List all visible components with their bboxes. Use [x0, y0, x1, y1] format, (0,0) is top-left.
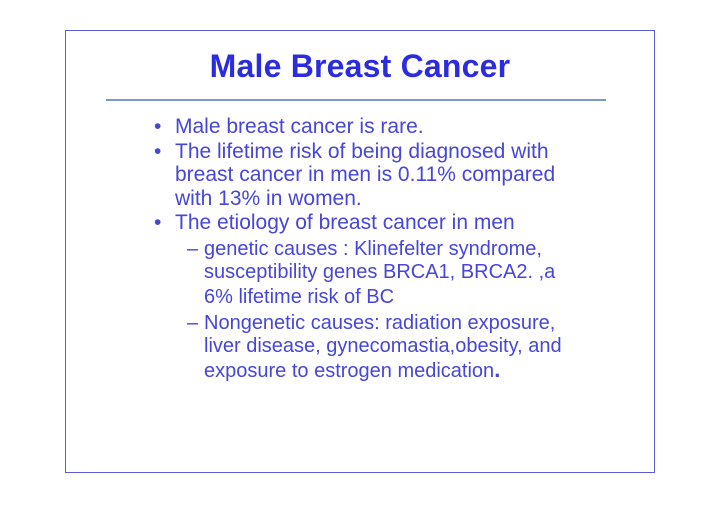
list-item: • The lifetime risk of being diagnosed w…: [106, 140, 636, 211]
sub-list-item-body: Nongenetic causes: radiation exposure, l…: [204, 312, 562, 382]
bullet-dash-icon: –: [187, 312, 198, 335]
list-item: • The etiology of breast cancer in men: [106, 211, 636, 235]
sub-list-item: – genetic causes : Klinefelter syndrome,…: [106, 238, 636, 309]
sub-list-item-emphasis: .: [494, 357, 500, 382]
sub-list-item: – Nongenetic causes: radiation exposure,…: [106, 312, 636, 383]
list-item-text: The etiology of breast cancer in men: [175, 211, 636, 235]
list-item: • Male breast cancer is rare.: [106, 115, 636, 139]
list-item-text: The lifetime risk of being diagnosed wit…: [175, 140, 636, 211]
slide-frame: Male Breast Cancer • Male breast cancer …: [65, 30, 655, 473]
sub-list-item-text: Nongenetic causes: radiation exposure, l…: [204, 312, 636, 383]
slide-canvas: Male Breast Cancer • Male breast cancer …: [0, 0, 720, 509]
bullet-dash-icon: –: [187, 238, 198, 261]
title-divider: [106, 99, 606, 101]
slide-content: • Male breast cancer is rare. • The life…: [106, 115, 636, 383]
sub-list-item-text: genetic causes : Klinefelter syndrome, s…: [204, 238, 636, 309]
list-item-text: Male breast cancer is rare.: [175, 115, 636, 139]
sub-list-item-body: genetic causes : Klinefelter syndrome, s…: [204, 238, 555, 308]
page-title: Male Breast Cancer: [66, 49, 654, 84]
bullet-dot-icon: •: [154, 140, 161, 164]
bullet-dot-icon: •: [154, 115, 161, 139]
bullet-dot-icon: •: [154, 211, 161, 235]
